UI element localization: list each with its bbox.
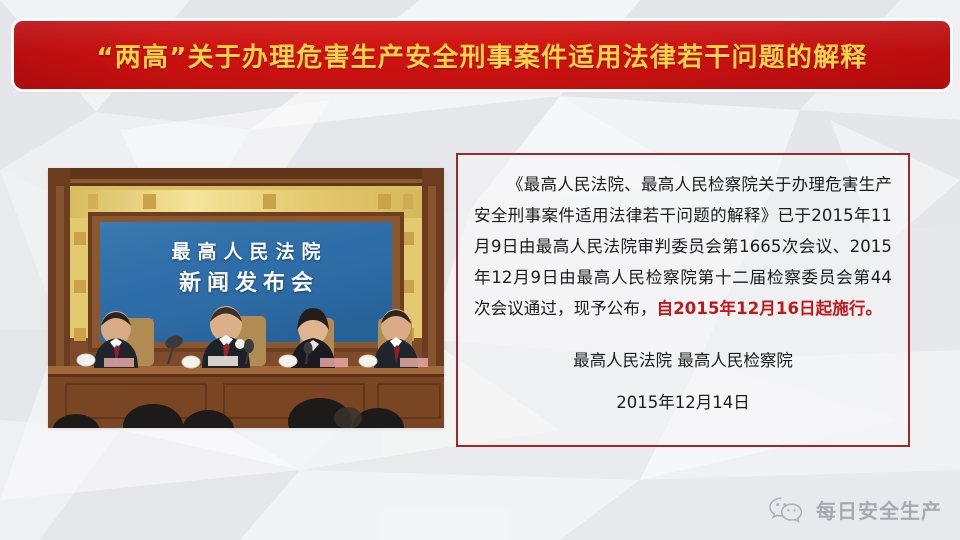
announcement-body-normal: 《最高人民法院、最高人民检察院关于办理危害生产安全刑事案件适用法律若干问题的解释… xyxy=(474,175,892,318)
signature-date: 2015年12月14日 xyxy=(474,388,892,418)
press-conference-photo-image xyxy=(48,168,444,428)
title-banner: “两高”关于办理危害生产安全刑事案件适用法律若干问题的解释 xyxy=(14,21,950,89)
announcement-card: 《最高人民法院、最高人民检察院关于办理危害生产安全刑事案件适用法律若干问题的解释… xyxy=(456,153,910,447)
press-conference-photo: 最高人民法院 新闻发布会 xyxy=(48,168,444,428)
wechat-account-name: 每日安全生产 xyxy=(816,495,942,524)
wechat-icon xyxy=(767,494,807,524)
page-title: “两高”关于办理危害生产安全刑事案件适用法律若干问题的解释 xyxy=(97,37,868,74)
slide-canvas: “两高”关于办理危害生产安全刑事案件适用法律若干问题的解释 xyxy=(0,0,960,540)
announcement-body: 《最高人民法院、最高人民检察院关于办理危害生产安全刑事案件适用法律若干问题的解释… xyxy=(474,169,892,324)
wechat-footer[interactable]: 每日安全生产 xyxy=(767,494,942,524)
signature-authorities: 最高人民法院 最高人民检察院 xyxy=(474,346,892,376)
announcement-body-emphasis: 自2015年12月16日起施行。 xyxy=(657,299,882,318)
